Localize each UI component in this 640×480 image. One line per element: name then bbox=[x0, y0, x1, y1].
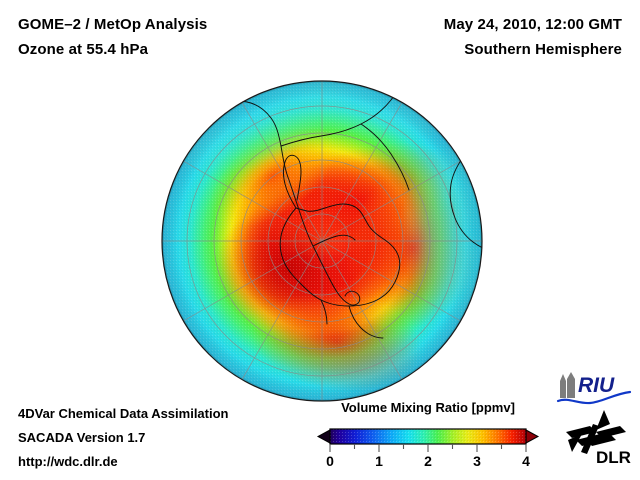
hemisphere-label: Southern Hemisphere bbox=[444, 37, 622, 62]
colorbar-extend-low-arrow bbox=[318, 430, 330, 443]
colorbar-tick-label-2: 2 bbox=[424, 453, 432, 469]
footer-left: 4DVar Chemical Data Assimilation SACADA … bbox=[18, 402, 229, 474]
dlr-wordmark: DLR bbox=[596, 448, 631, 467]
colorbar-tick-label-0: 0 bbox=[326, 453, 334, 469]
instrument-title: GOME–2 / MetOp Analysis bbox=[18, 12, 207, 37]
version-label: SACADA Version 1.7 bbox=[18, 426, 229, 450]
header-right: May 24, 2010, 12:00 GMT Southern Hemisph… bbox=[444, 12, 622, 62]
riu-wordmark: RIU bbox=[578, 374, 615, 397]
timestamp-label: May 24, 2010, 12:00 GMT bbox=[444, 12, 622, 37]
colorbar-tick-label-1: 1 bbox=[375, 453, 383, 469]
globe-map bbox=[161, 80, 483, 402]
colorbar-tick-label-4: 4 bbox=[522, 453, 530, 469]
colorbar-dither bbox=[330, 429, 526, 444]
riu-logo: RIU bbox=[556, 372, 632, 408]
product-level-title: Ozone at 55.4 hPa bbox=[18, 37, 207, 62]
colorbar-extend-high-arrow bbox=[526, 430, 538, 443]
source-url-label: http://wdc.dlr.de bbox=[18, 450, 229, 474]
riu-tower-icon bbox=[560, 372, 575, 398]
header-left: GOME–2 / MetOp Analysis Ozone at 55.4 hP… bbox=[18, 12, 207, 62]
colorbar-tick-label-3: 3 bbox=[473, 453, 481, 469]
coastline-australia bbox=[479, 87, 483, 132]
colorbar-title: Volume Mixing Ratio [ppmv] bbox=[312, 400, 544, 415]
colorbar: Volume Mixing Ratio [ppmv] bbox=[312, 400, 544, 470]
method-label: 4DVar Chemical Data Assimilation bbox=[18, 402, 229, 426]
dlr-logo: DLR bbox=[560, 410, 634, 468]
colorbar-ticks bbox=[330, 444, 526, 452]
ozone-analysis-figure: GOME–2 / MetOp Analysis Ozone at 55.4 hP… bbox=[0, 0, 640, 480]
